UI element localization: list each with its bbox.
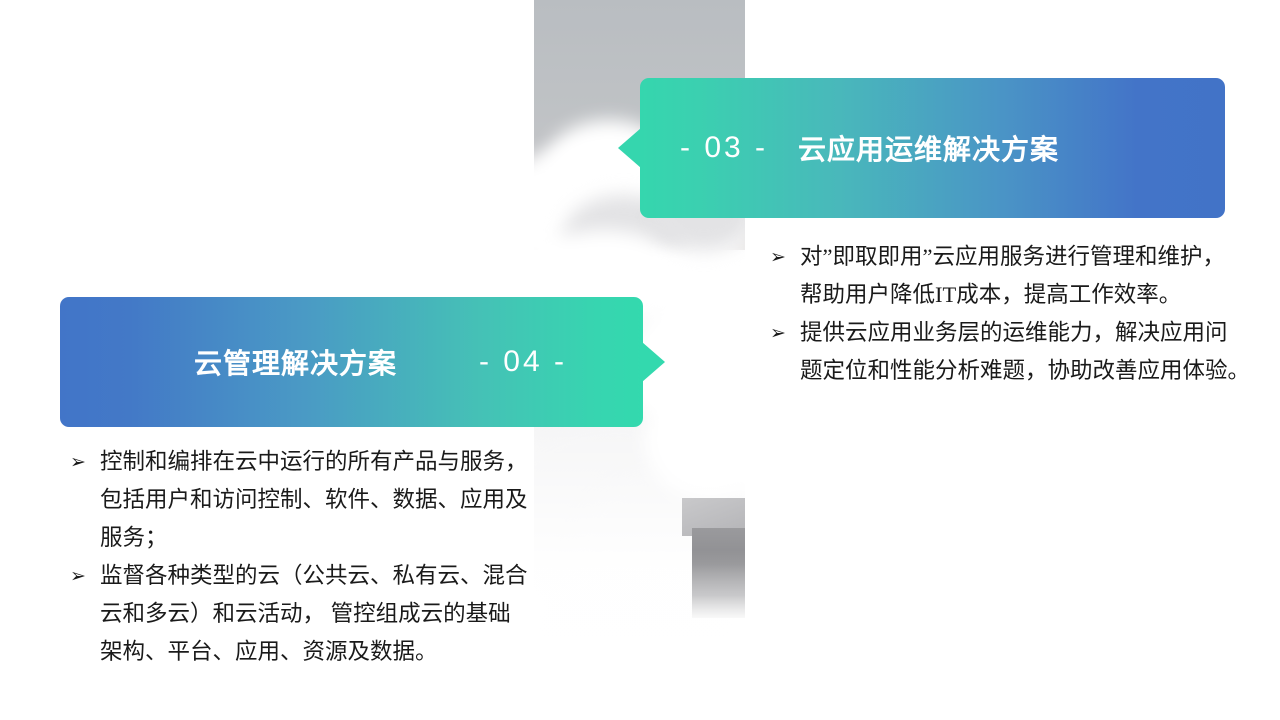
bullet-line: 帮助用户降低IT成本，提高工作效率。 <box>800 276 1250 314</box>
bullet-line: 云和多云）和云活动， 管控组成云的基础 <box>100 595 528 633</box>
bullet-line: 包括用户和访问控制、软件、数据、应用及 <box>100 481 528 519</box>
bullet-item: ➢ 监督各种类型的云（公共云、私有云、混合 云和多云）和云活动， 管控组成云的基… <box>70 557 528 671</box>
banner-section-04[interactable]: 云管理解决方案 - 04 - <box>60 297 643 427</box>
bullet-line: 题定位和性能分析难题，协助改善应用体验。 <box>800 352 1250 390</box>
bullet-item: ➢ 控制和编排在云中运行的所有产品与服务， 包括用户和访问控制、软件、数据、应用… <box>70 443 528 557</box>
bullet-text: 提供云应用业务层的运维能力，解决应用问 题定位和性能分析难题，协助改善应用体验。 <box>800 314 1250 390</box>
bullet-line: 对”即取即用”云应用服务进行管理和维护， <box>800 238 1250 276</box>
banner-arrow-left-icon <box>618 128 641 168</box>
bullet-line: 服务； <box>100 519 528 557</box>
bullet-item: ➢ 对”即取即用”云应用服务进行管理和维护， 帮助用户降低IT成本，提高工作效率… <box>770 238 1250 314</box>
arrow-bullet-icon: ➢ <box>770 314 800 352</box>
bullet-line: 架构、平台、应用、资源及数据。 <box>100 633 528 671</box>
slide-canvas: - 03 - 云应用运维解决方案 云管理解决方案 - 04 - ➢ 对”即取即用… <box>0 0 1280 720</box>
arrow-bullet-icon: ➢ <box>770 238 800 276</box>
content-block-section-03: ➢ 对”即取即用”云应用服务进行管理和维护， 帮助用户降低IT成本，提高工作效率… <box>770 238 1250 390</box>
bullet-line: 监督各种类型的云（公共云、私有云、混合 <box>100 557 528 595</box>
strip-bottom-fade <box>534 550 745 720</box>
arrow-bullet-icon: ➢ <box>70 557 100 595</box>
bullet-item: ➢ 提供云应用业务层的运维能力，解决应用问 题定位和性能分析难题，协助改善应用体… <box>770 314 1250 390</box>
bullet-text: 对”即取即用”云应用服务进行管理和维护， 帮助用户降低IT成本，提高工作效率。 <box>800 238 1250 314</box>
bullet-text: 控制和编排在云中运行的所有产品与服务， 包括用户和访问控制、软件、数据、应用及 … <box>100 443 528 557</box>
bullet-text: 监督各种类型的云（公共云、私有云、混合 云和多云）和云活动， 管控组成云的基础 … <box>100 557 528 671</box>
banner-04-number: - 04 - <box>479 345 567 379</box>
banner-03-number: - 03 - <box>680 131 768 165</box>
arrow-bullet-icon: ➢ <box>70 443 100 481</box>
banner-arrow-right-icon <box>642 342 665 382</box>
banner-section-03[interactable]: - 03 - 云应用运维解决方案 <box>640 78 1225 218</box>
banner-04-title: 云管理解决方案 <box>194 342 397 382</box>
banner-03-title: 云应用运维解决方案 <box>798 128 1059 168</box>
content-block-section-04: ➢ 控制和编排在云中运行的所有产品与服务， 包括用户和访问控制、软件、数据、应用… <box>70 443 528 671</box>
bullet-line: 控制和编排在云中运行的所有产品与服务， <box>100 443 528 481</box>
bullet-line: 提供云应用业务层的运维能力，解决应用问 <box>800 314 1250 352</box>
